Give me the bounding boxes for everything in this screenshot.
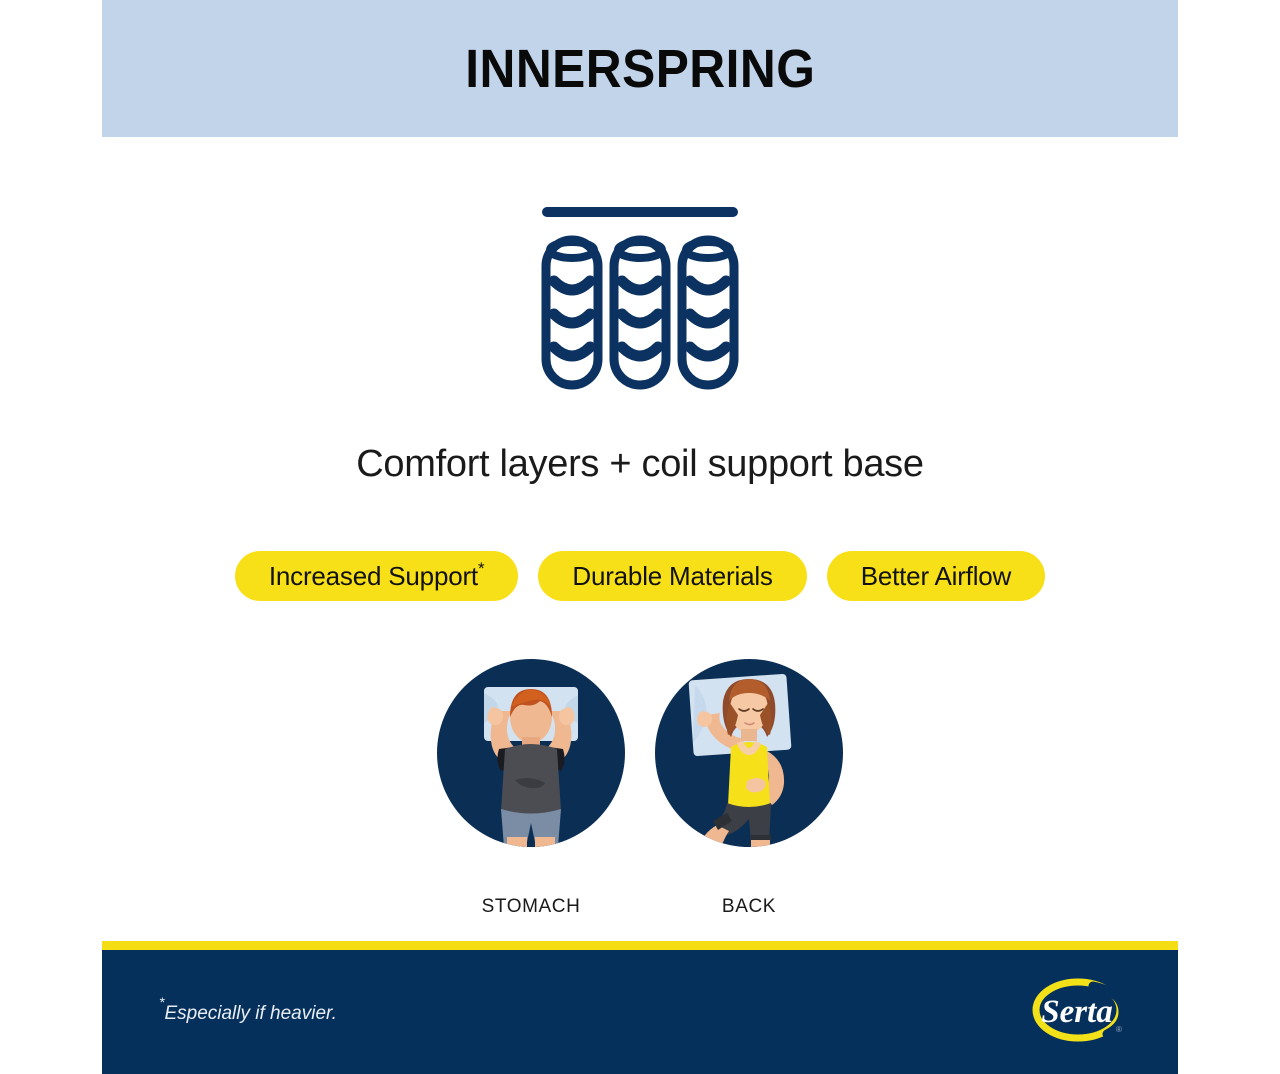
footer-band: *Especially if heavier. Serta ® [102,950,1178,1074]
subhead-text: Comfort layers + coil support base [102,443,1178,486]
sleep-position-label: STOMACH [482,896,581,918]
coil-cylinder-2 [614,240,666,385]
benefit-pill-row: Increased Support* Durable Materials Bet… [102,551,1178,601]
sleep-positions-row: STOMACH [102,659,1178,918]
benefit-pill-label: Durable Materials [572,561,772,592]
benefit-pill-label: Better Airflow [861,561,1011,592]
coil-cylinder-1 [546,240,598,385]
sleep-position-label: BACK [722,896,776,918]
serta-logo: Serta ® [1031,976,1131,1048]
back-sleeper-illustration [655,659,843,847]
benefit-pill[interactable]: Better Airflow [827,551,1045,601]
serta-registered-mark: ® [1116,1025,1122,1034]
innerspring-infographic-card: INNERSPRING [102,0,1178,1074]
footnote-label: Especially if heavier. [164,1003,336,1024]
benefit-pill[interactable]: Increased Support* [235,551,519,601]
coil-cylinder-3 [682,240,734,385]
stomach-sleeper-illustration [437,659,625,847]
benefit-pill-label: Increased Support [269,561,478,592]
coil-springs-icon [540,200,740,390]
footer-accent-bar [102,941,1178,950]
sleep-position-item: BACK [655,659,843,918]
footnote-text: *Especially if heavier. [159,1003,337,1025]
page-title: INNERSPRING [465,38,815,100]
coil-icon-container [102,200,1178,390]
back-sleeper-circle [655,659,843,847]
benefit-pill[interactable]: Durable Materials [538,551,806,601]
serta-logo-mark: Serta ® [1031,976,1131,1048]
sleep-position-item: STOMACH [437,659,625,918]
stomach-sleeper-circle [437,659,625,847]
serta-logo-text: Serta [1041,994,1113,1030]
footnote-marker: * [159,994,164,1010]
header-band: INNERSPRING [102,0,1178,137]
